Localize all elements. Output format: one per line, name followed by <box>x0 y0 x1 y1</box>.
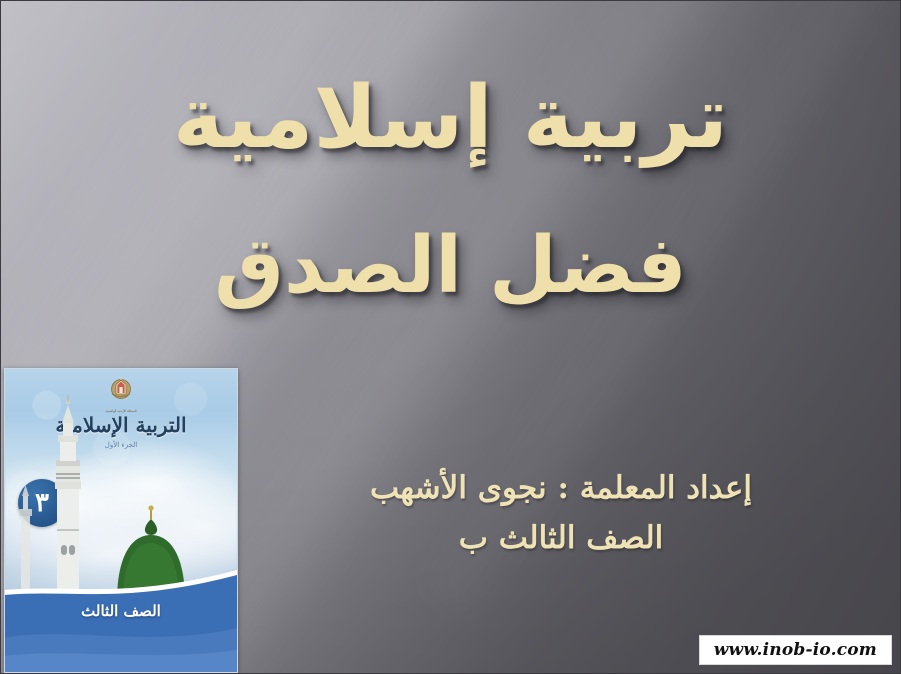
slide-title: تربية إسلامية <box>1 75 900 163</box>
presenter-block: إعداد المعلمة : نجوى الأشهب الصف الثالث … <box>326 463 796 563</box>
watermark-badge: www.inob-io.com <box>699 635 892 665</box>
title-slide: تربية إسلامية فضل الصدق إعداد المعلمة : … <box>0 0 901 674</box>
textbook-cover-image: المملكة الأردنية الهاشمية التربية الإسلا… <box>4 368 238 673</box>
cover-grade-footer: الصف الثالث <box>5 602 237 620</box>
watermark-url: www.inob-io.com <box>714 640 877 660</box>
prepared-by-line: إعداد المعلمة : نجوى الأشهب <box>326 463 796 513</box>
grade-line: الصف الثالث ب <box>326 513 796 563</box>
slide-subtitle: فضل الصدق <box>1 227 900 307</box>
headline-block: تربية إسلامية فضل الصدق <box>1 75 900 306</box>
